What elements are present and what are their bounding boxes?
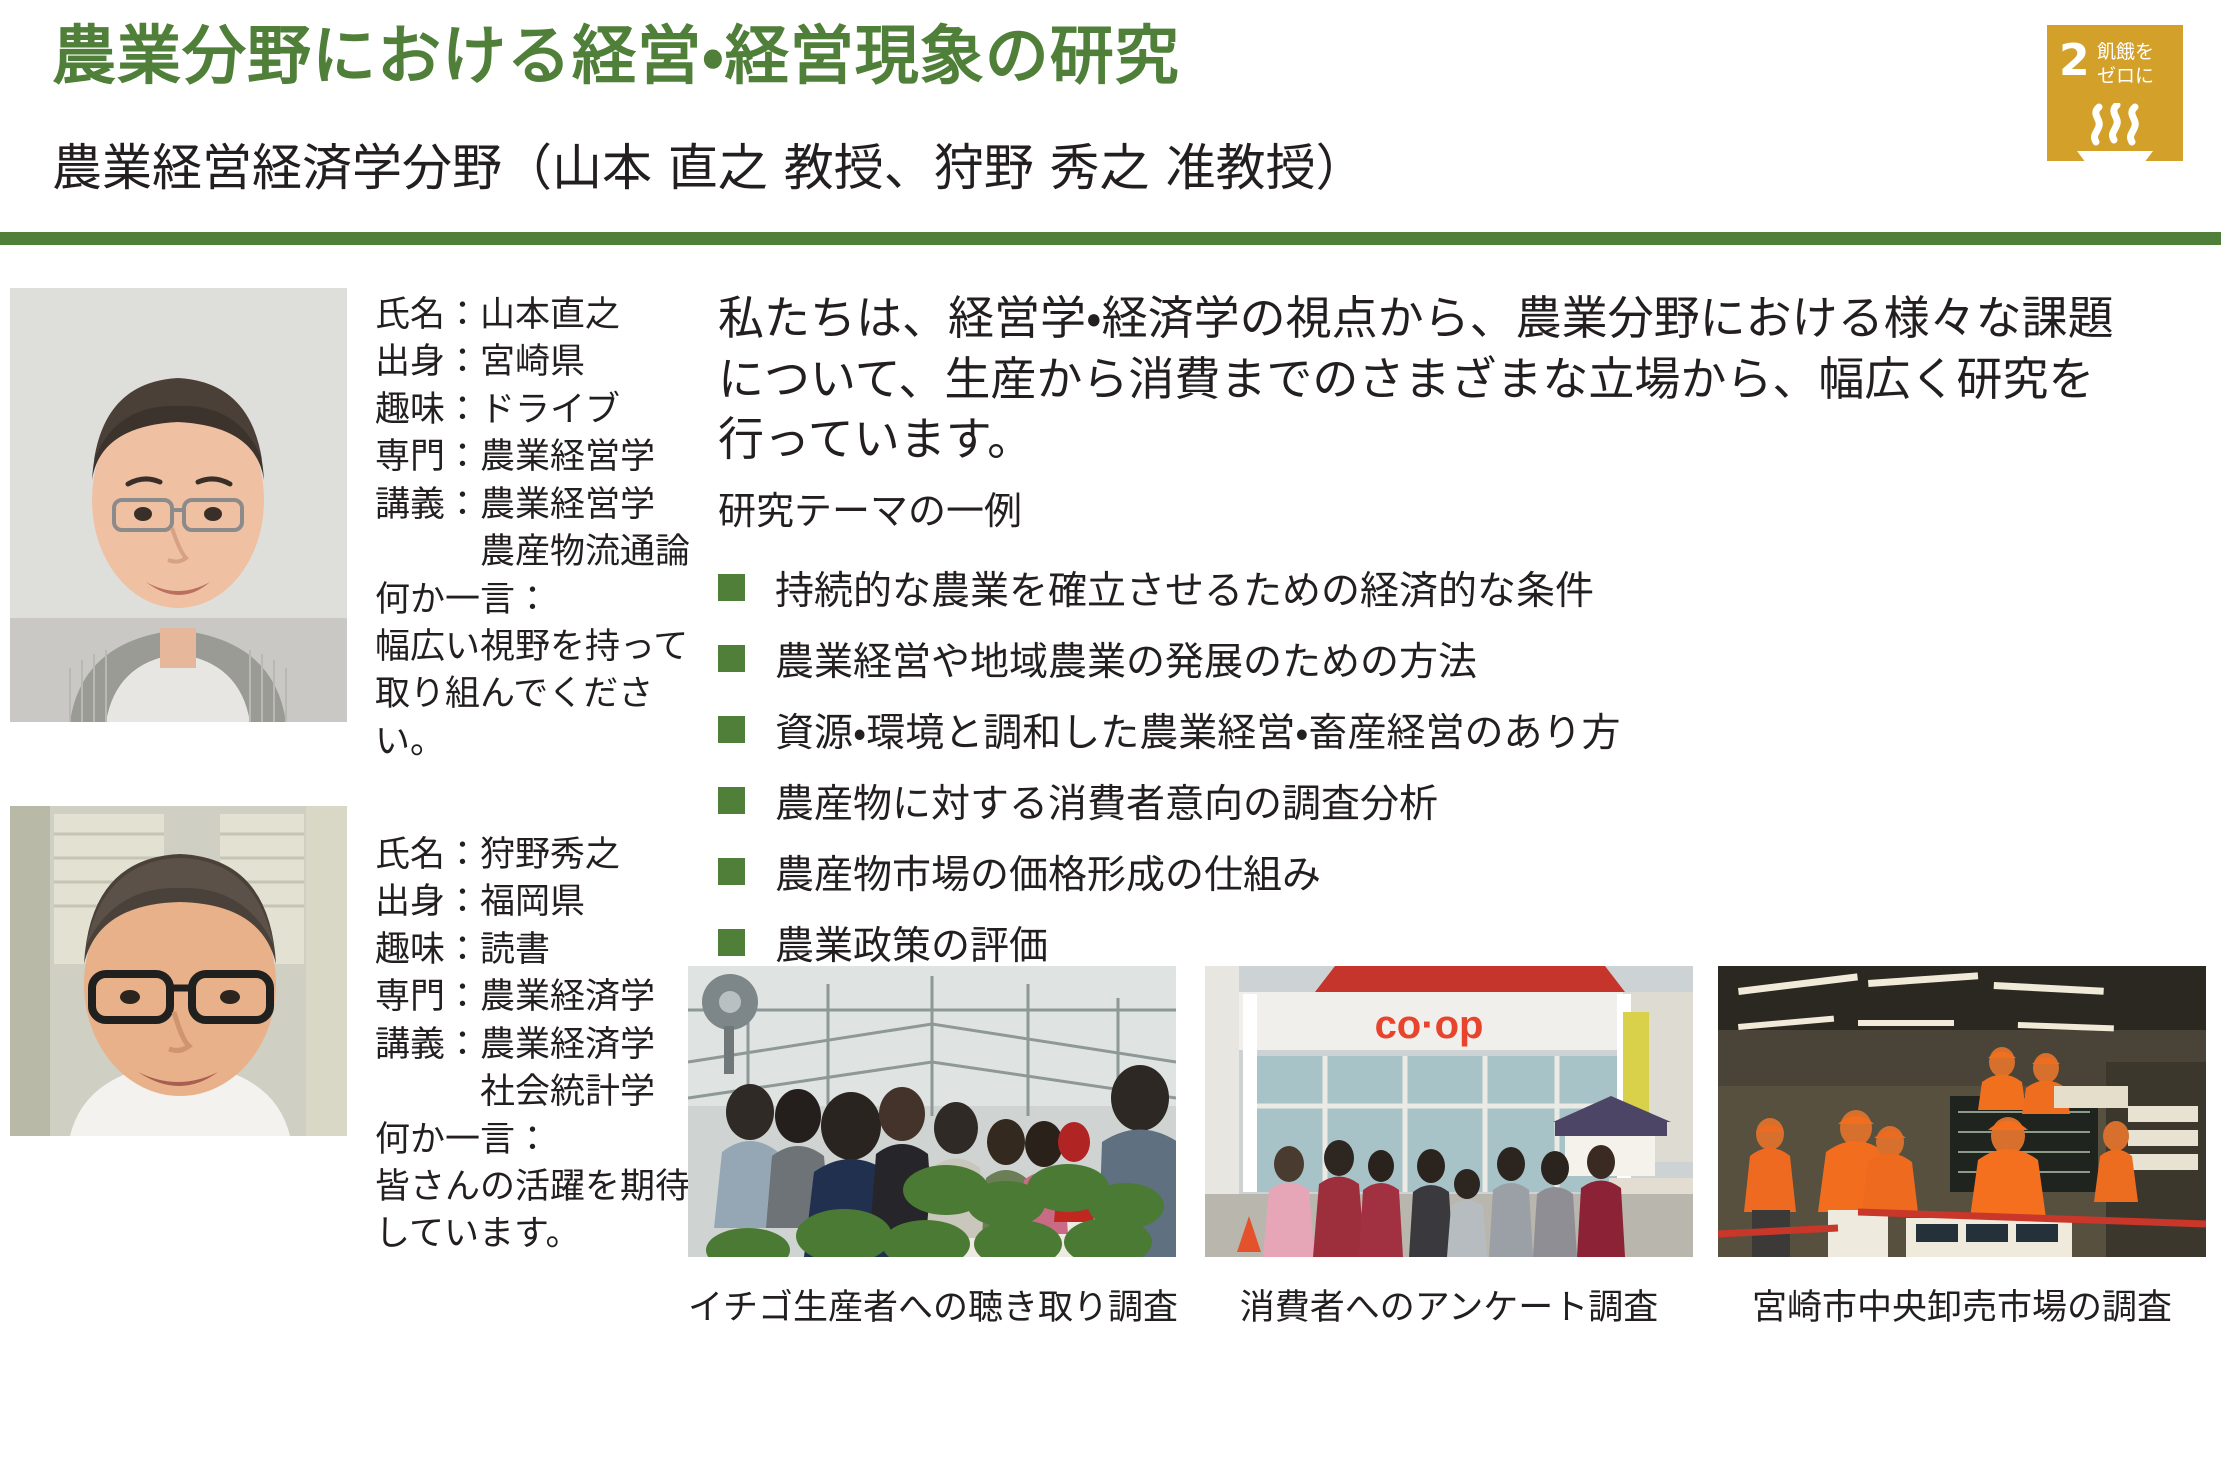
photo-card-greenhouse: イチゴ生産者への聴き取り調査 bbox=[688, 966, 1176, 1330]
list-item: 農産物市場の価格形成の仕組み bbox=[718, 836, 2018, 907]
square-bullet-icon bbox=[718, 574, 745, 601]
list-item: 資源・環境と調和した農業経営・畜産経営のあり方 bbox=[718, 694, 2018, 765]
list-item-label: 持続的な農業を確立させるための経済的な条件 bbox=[775, 560, 1594, 616]
portrait-photo-yamamoto bbox=[10, 288, 347, 722]
photo-caption: 消費者へのアンケート調査 bbox=[1205, 1279, 1693, 1330]
sdg-goal-label: 飢餓を ゼロに bbox=[2097, 41, 2154, 89]
photo-caption: 宮崎市中央卸売市場の調査 bbox=[1718, 1279, 2206, 1330]
page-title: 農業分野における経営・経営現象の研究 bbox=[52, 22, 1180, 94]
list-item-label: 農業経営や地域農業の発展のための方法 bbox=[775, 631, 1477, 687]
profile-text-yamamoto: 氏名：山本直之 出身：宮崎県 趣味：ドライブ 専門：農業経営学 講義：農業経営学… bbox=[375, 292, 715, 766]
sdg-goal-number: 2 bbox=[2059, 39, 2090, 83]
list-item-label: 資源・環境と調和した農業経営・畜産経営のあり方 bbox=[775, 702, 1621, 758]
photo-card-market: 宮崎市中央卸売市場の調査 bbox=[1718, 966, 2206, 1330]
square-bullet-icon bbox=[718, 716, 745, 743]
intro-paragraph: 私たちは、経営学・経済学の視点から、農業分野における様々な課題について、生産から… bbox=[718, 288, 2138, 470]
wholesale-market-photo bbox=[1718, 966, 2206, 1257]
square-bullet-icon bbox=[718, 645, 745, 672]
steaming-bowl-icon bbox=[2047, 103, 2183, 161]
portrait-photo-kano bbox=[10, 806, 347, 1136]
research-themes-heading: 研究テーマの一例 bbox=[718, 480, 1022, 535]
page-subtitle: 農業経営経済学分野（山本 直之 教授、狩野 秀之 准教授） bbox=[52, 140, 1366, 196]
list-item: 持続的な農業を確立させるための経済的な条件 bbox=[718, 552, 2018, 623]
list-item: 農業経営や地域農業の発展のための方法 bbox=[718, 623, 2018, 694]
header-divider bbox=[0, 232, 2221, 245]
list-item-label: 農産物に対する消費者意向の調査分析 bbox=[775, 773, 1438, 829]
greenhouse-interview-photo bbox=[688, 966, 1176, 1257]
square-bullet-icon bbox=[718, 858, 745, 885]
list-item-label: 農業政策の評価 bbox=[775, 915, 1048, 971]
list-item-label: 農産物市場の価格形成の仕組み bbox=[775, 844, 1321, 900]
square-bullet-icon bbox=[718, 929, 745, 956]
square-bullet-icon bbox=[718, 787, 745, 814]
poster-slide: 農業分野における経営・経営現象の研究 農業経営経済学分野（山本 直之 教授、狩野… bbox=[0, 0, 2221, 1465]
list-item: 農産物に対する消費者意向の調査分析 bbox=[718, 765, 2018, 836]
profile-text-kano: 氏名：狩野秀之 出身：福岡県 趣味：読書 専門：農業経済学 講義：農業経済学 社… bbox=[375, 832, 715, 1259]
coop-storefront-survey-photo: co·op bbox=[1205, 966, 1693, 1257]
photo-caption: イチゴ生産者への聴き取り調査 bbox=[688, 1279, 1176, 1330]
svg-text:co·op: co·op bbox=[1375, 1003, 1484, 1047]
research-themes-list: 持続的な農業を確立させるための経済的な条件 農業経営や地域農業の発展のための方法… bbox=[718, 552, 2018, 978]
photo-card-coop: co·op bbox=[1205, 966, 1693, 1330]
sdg-goal-badge: 2 飢餓を ゼロに bbox=[2047, 25, 2183, 161]
